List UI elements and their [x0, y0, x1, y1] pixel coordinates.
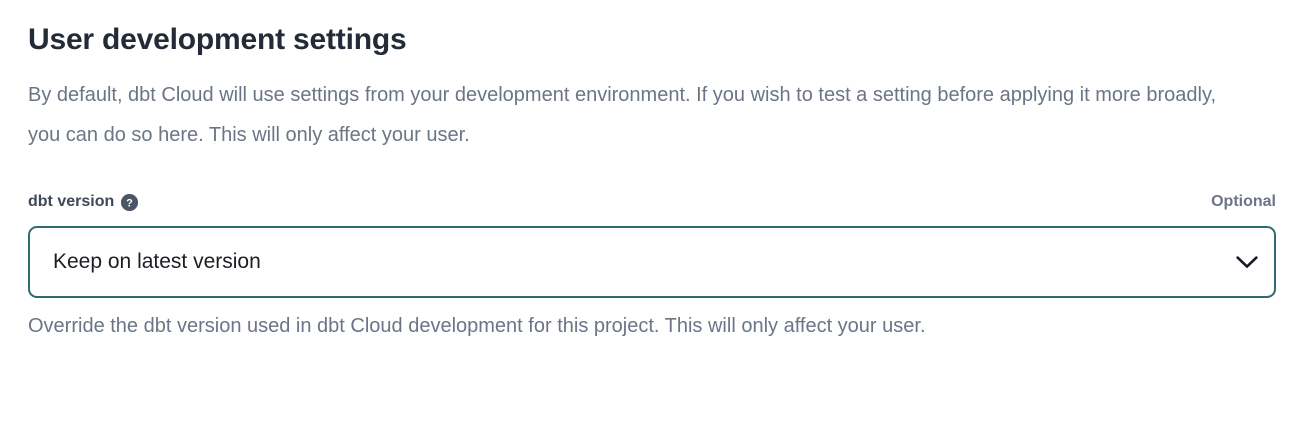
dbt-version-selected-value: Keep on latest version [30, 248, 1220, 276]
dbt-version-label-group: dbt version ? [28, 192, 138, 212]
svg-text:?: ? [126, 197, 133, 209]
chevron-down-icon[interactable] [1220, 256, 1274, 269]
dbt-version-label: dbt version [28, 192, 114, 212]
optional-badge: Optional [1211, 192, 1276, 212]
section-header: User development settings By default, db… [28, 0, 1276, 155]
dbt-version-label-row: dbt version ? Optional [28, 190, 1276, 214]
page-title: User development settings [28, 0, 1276, 60]
dbt-version-select[interactable]: Keep on latest version [28, 226, 1276, 298]
help-circle-icon[interactable]: ? [121, 194, 138, 211]
section-description: By default, dbt Cloud will use settings … [28, 60, 1233, 155]
dbt-version-help-text: Override the dbt version used in dbt Clo… [28, 298, 1276, 340]
user-development-settings-panel: User development settings By default, db… [0, 0, 1316, 430]
dbt-version-field: dbt version ? Optional Keep on latest ve… [28, 190, 1276, 340]
